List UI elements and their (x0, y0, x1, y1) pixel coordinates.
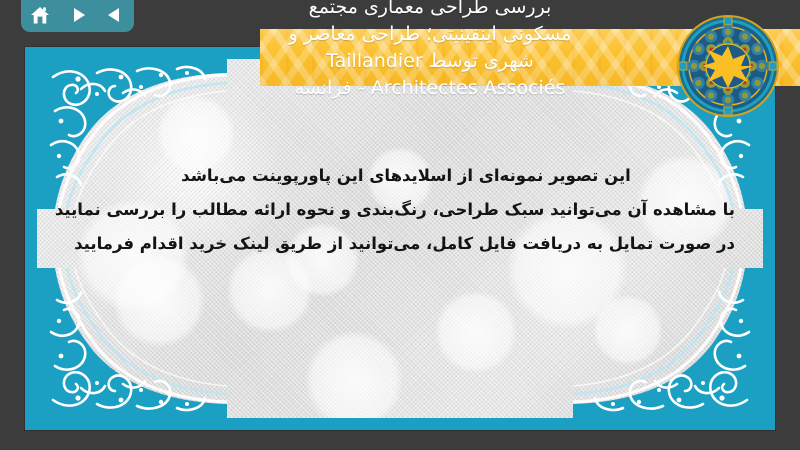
arabesque-corner-ornament-bottom-right (573, 268, 763, 418)
islamic-mandala-medallion (676, 14, 780, 118)
back-button[interactable] (102, 3, 128, 27)
bokeh-circle (435, 291, 517, 373)
triangle-left-icon (106, 6, 124, 24)
house-icon (30, 6, 50, 25)
title-line-1: بررسی طراحی معماری مجتمع (180, 0, 680, 21)
slide-canvas: این تصویر نمونه‌ای از اسلایدهای این پاور… (37, 59, 763, 418)
bokeh-circle (593, 295, 663, 365)
body-line-2: با مشاهده آن می‌توانید سبک طراحی، رنگ‌بن… (77, 193, 735, 227)
slide-frame: این تصویر نمونه‌ای از اسلایدهای این پاور… (25, 47, 775, 430)
bokeh-circle (305, 331, 403, 418)
slide-body-text: این تصویر نمونه‌ای از اسلایدهای این پاور… (77, 159, 735, 261)
triangle-right-icon (69, 6, 87, 24)
forward-button[interactable] (65, 3, 91, 27)
body-line-3: در صورت تمایل به دریافت فایل کامل، می‌تو… (77, 227, 735, 261)
arabesque-corner-ornament-bottom-left (37, 268, 227, 418)
body-line-1: این تصویر نمونه‌ای از اسلایدهای این پاور… (77, 159, 735, 193)
home-button[interactable] (27, 3, 53, 27)
bokeh-circle (113, 255, 205, 347)
navigation-bar (21, 0, 134, 32)
slide-viewer: این تصویر نمونه‌ای از اسلایدهای این پاور… (0, 0, 800, 450)
